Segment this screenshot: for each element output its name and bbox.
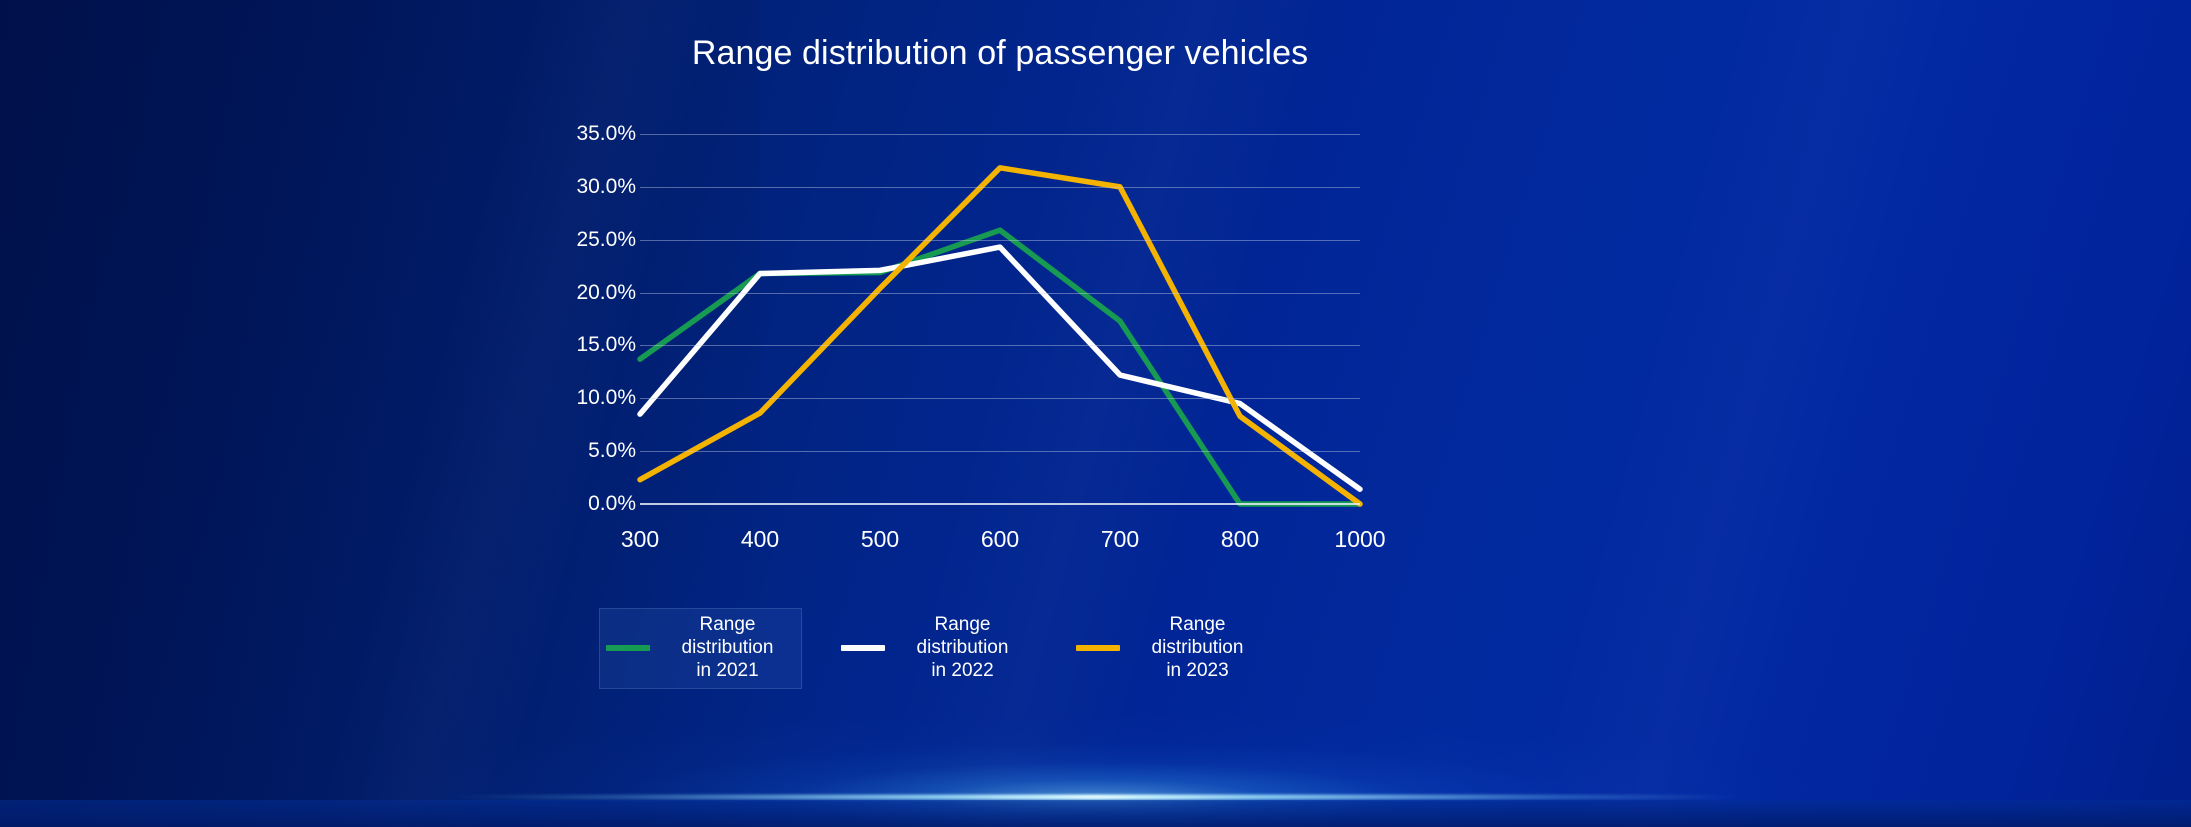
y-axis-tick-label: 15.0% (486, 333, 636, 357)
legend-item[interactable]: Range distribution in 2021 (600, 609, 801, 688)
horizon-glow (346, 713, 1846, 827)
gridline (640, 451, 1360, 452)
series-line (640, 168, 1360, 504)
gridline (640, 134, 1360, 135)
x-axis-tick-label: 400 (700, 526, 820, 553)
gridline (640, 398, 1360, 399)
legend-item-label: Range distribution in 2021 (660, 613, 795, 682)
slide-canvas: Range distribution of passenger vehicles… (0, 0, 2191, 827)
y-axis-tick-label: 35.0% (486, 122, 636, 146)
y-axis-tick-label: 20.0% (486, 281, 636, 305)
y-axis-tick-label: 30.0% (486, 175, 636, 199)
gridline (640, 293, 1360, 294)
x-axis-tick-label: 800 (1180, 526, 1300, 553)
y-axis-tick-label: 25.0% (486, 228, 636, 252)
y-axis-tick-label: 0.0% (486, 492, 636, 516)
legend-color-swatch (1076, 645, 1120, 651)
horizon-light-streak (451, 795, 1741, 800)
legend-item-label: Range distribution in 2022 (895, 613, 1030, 682)
series-line (640, 247, 1360, 489)
series-line (640, 230, 1360, 504)
x-axis-tick-label: 1000 (1300, 526, 1420, 553)
plot-area: 35.0%30.0%25.0%20.0%15.0%10.0%5.0%0.0%30… (640, 134, 1360, 504)
gridline (640, 345, 1360, 346)
legend-color-swatch (606, 645, 650, 651)
chart-legend: Range distribution in 2021Range distribu… (600, 609, 1400, 689)
horizon-floor (0, 800, 2191, 827)
x-axis-tick-label: 600 (940, 526, 1060, 553)
y-axis-tick-label: 10.0% (486, 386, 636, 410)
x-axis-line (640, 503, 1360, 505)
gridline (640, 187, 1360, 188)
legend-item[interactable]: Range distribution in 2022 (835, 609, 1036, 688)
series-lines (640, 134, 1360, 504)
legend-item-label: Range distribution in 2023 (1130, 613, 1265, 682)
legend-item[interactable]: Range distribution in 2023 (1070, 609, 1271, 688)
chart-title: Range distribution of passenger vehicles (520, 34, 1480, 73)
horizon-light-core (991, 796, 1201, 799)
gridline (640, 240, 1360, 241)
x-axis-tick-label: 300 (580, 526, 700, 553)
x-axis-tick-label: 700 (1060, 526, 1180, 553)
y-axis-tick-label: 5.0% (486, 439, 636, 463)
legend-color-swatch (841, 645, 885, 651)
x-axis-tick-label: 500 (820, 526, 940, 553)
line-chart: Range distribution of passenger vehicles… (520, 34, 1480, 694)
